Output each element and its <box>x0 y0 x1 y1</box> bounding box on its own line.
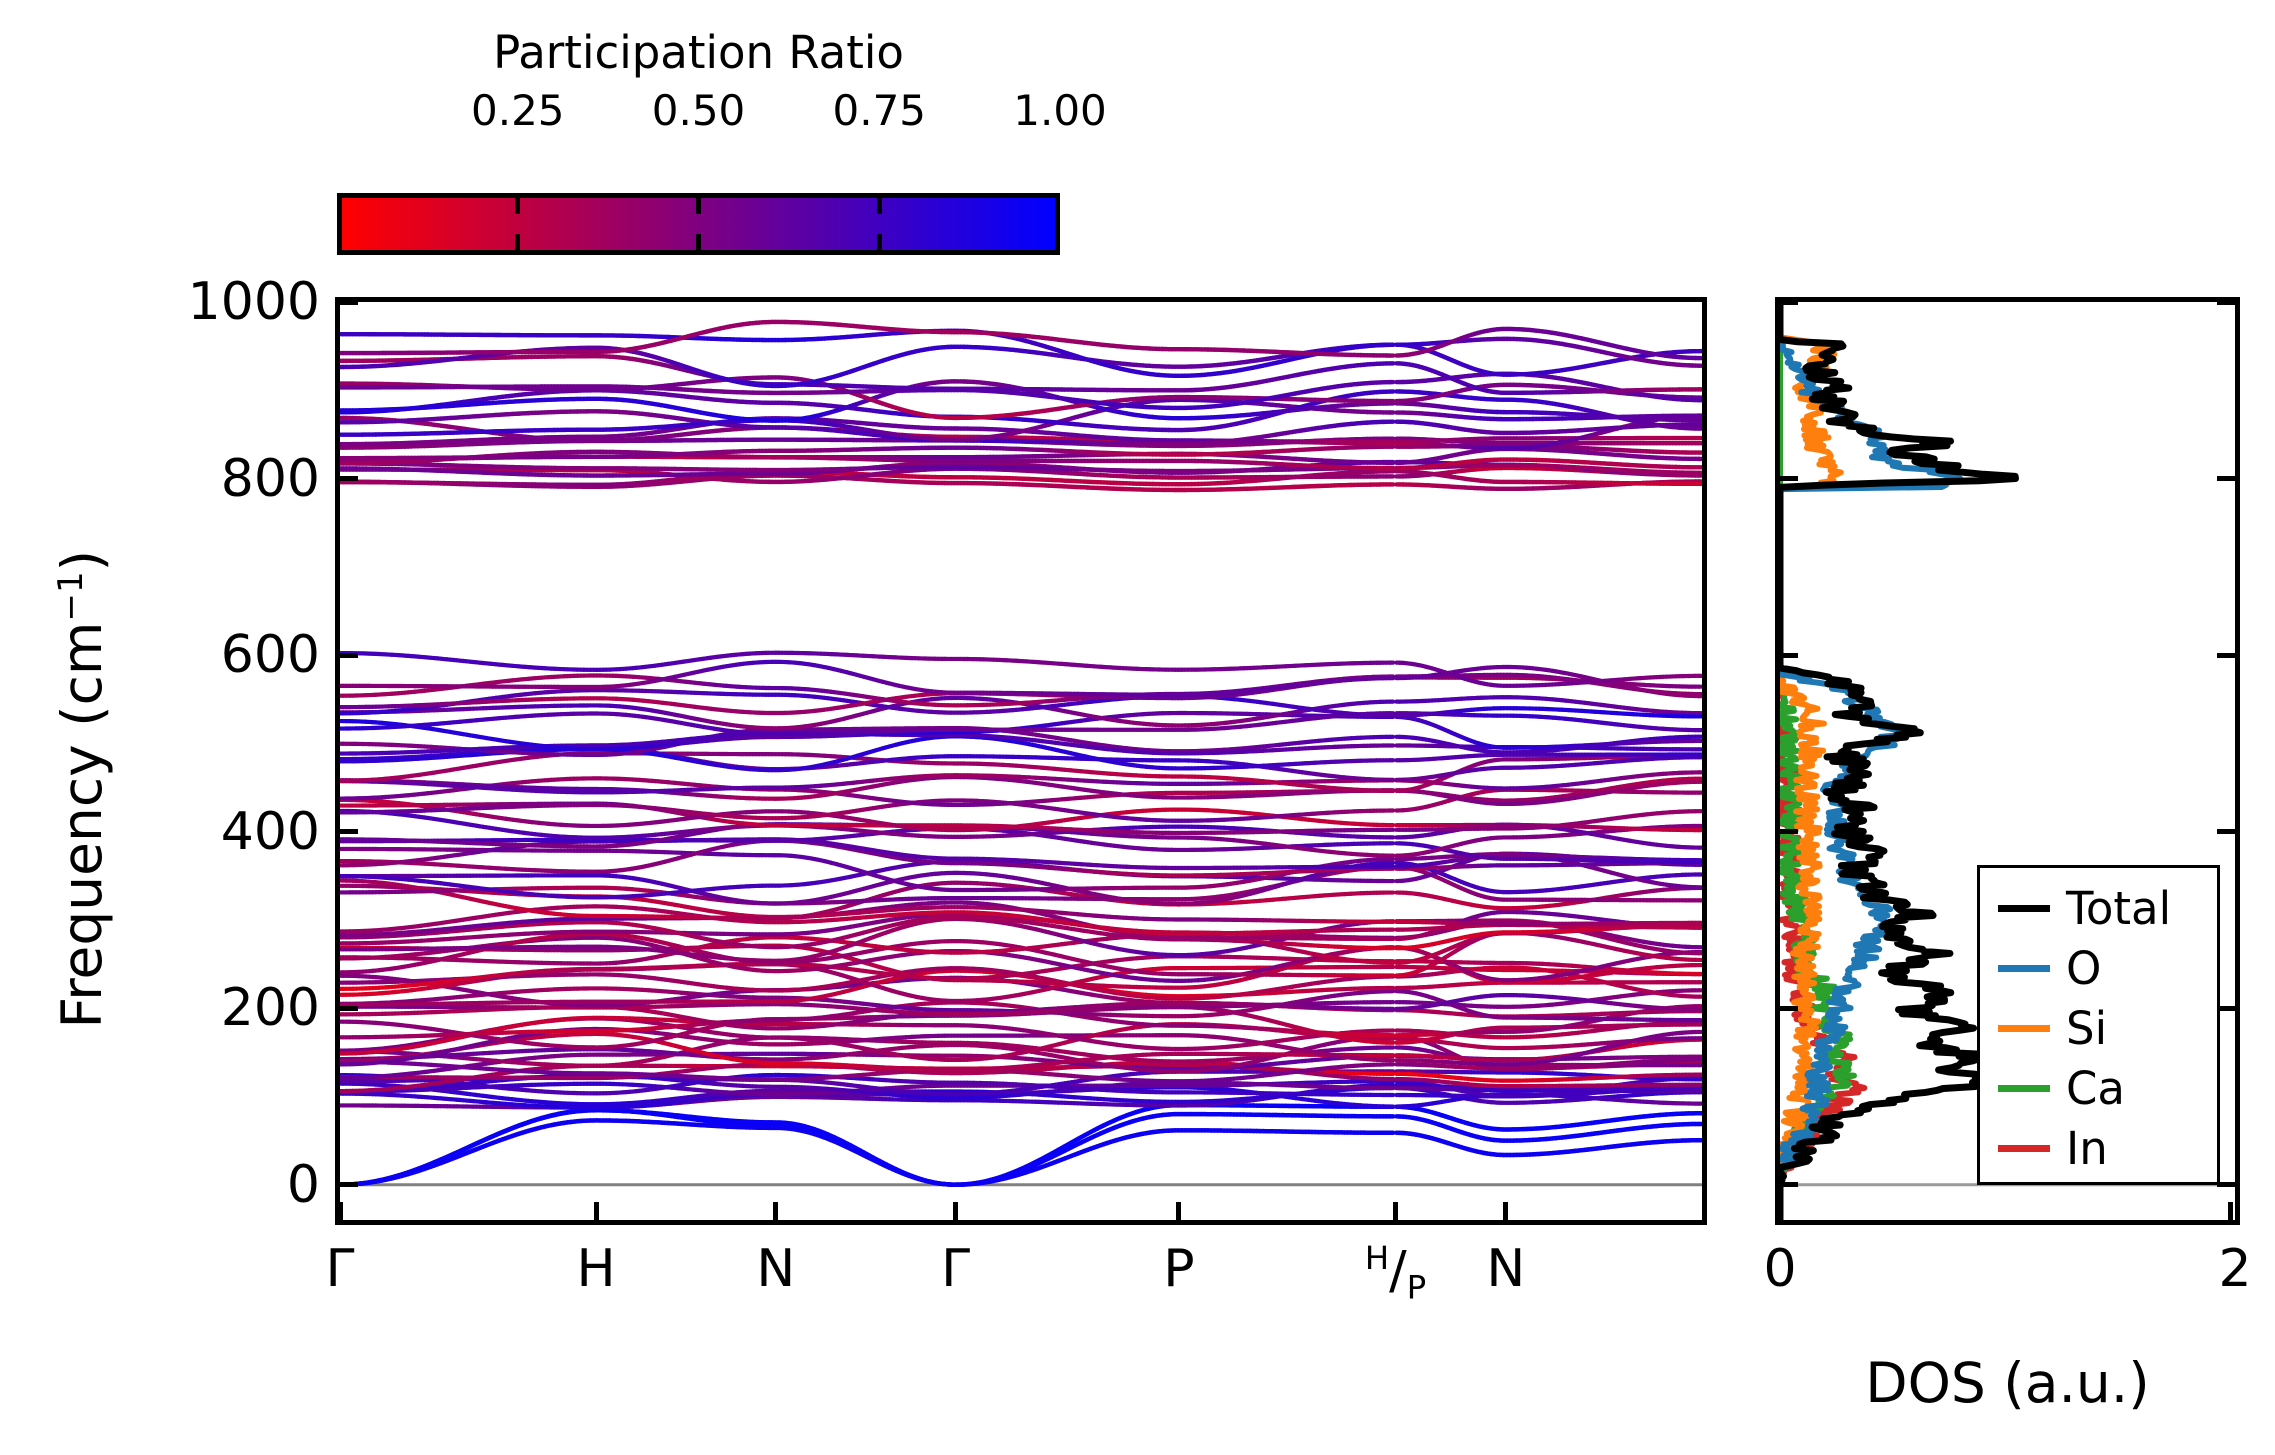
frequency-axis-exponent: −1 <box>51 571 91 621</box>
legend-entry: In <box>1980 1118 2217 1178</box>
frequency-tick <box>340 476 358 481</box>
kpath-tick <box>1393 1202 1398 1220</box>
kpath-tick <box>1503 1202 1508 1220</box>
kpath-tick-label: N <box>756 1239 795 1299</box>
kpath-tick <box>594 1202 599 1220</box>
dos-frequency-tick <box>1780 476 1798 481</box>
dos-tick <box>1778 1202 1783 1220</box>
band-structure-axes <box>335 297 1707 1225</box>
dos-tick-label: 2 <box>2218 1239 2251 1299</box>
frequency-tick-label: 600 <box>95 625 320 685</box>
legend-entry: Si <box>1980 998 2217 1058</box>
colorbar-tick-label: 0.75 <box>832 86 926 135</box>
legend-swatch-o <box>1998 965 2050 972</box>
frequency-tick <box>340 829 358 834</box>
dos-frequency-tick <box>2217 300 2235 305</box>
band-structure-plot-area <box>340 302 1702 1220</box>
band-structure-curves <box>340 302 1702 1220</box>
legend-entry: O <box>1980 938 2217 998</box>
colorbar-tick-labels: 0.250.500.751.00 <box>337 86 1060 132</box>
colorbar-title: Participation Ratio <box>337 30 1060 75</box>
kpath-tick-label: Γ <box>941 1239 970 1299</box>
legend-entry: Ca <box>1980 1058 2217 1118</box>
dos-tick-label: 0 <box>1763 1239 1796 1299</box>
dos-tick <box>2228 1202 2233 1220</box>
legend-swatch-ca <box>1998 1085 2050 1092</box>
dos-frequency-tick <box>1780 1182 1798 1187</box>
frequency-tick-label: 800 <box>95 449 320 509</box>
kpath-tick <box>773 1202 778 1220</box>
frequency-tick-label: 400 <box>95 802 320 862</box>
dos-frequency-tick <box>2217 476 2235 481</box>
dos-legend: TotalOSiCaIn <box>1977 865 2220 1185</box>
legend-label: Total <box>2066 886 2171 931</box>
dos-frequency-tick <box>2217 829 2235 834</box>
legend-swatch-in <box>1998 1145 2050 1152</box>
kpath-tick-label-hp: H/P <box>1365 1239 1426 1307</box>
kpath-tick-label: P <box>1163 1239 1194 1299</box>
dos-frequency-tick <box>2217 653 2235 658</box>
frequency-tick <box>340 1006 358 1011</box>
frequency-tick-label: 0 <box>95 1155 320 1215</box>
dos-axis-label: DOS (a.u.) <box>1775 1356 2240 1411</box>
colorbar-tick <box>696 234 701 250</box>
legend-swatch-si <box>1998 1025 2050 1032</box>
kpath-tick-label: H <box>576 1239 615 1299</box>
kpath-tick <box>338 1202 343 1220</box>
frequency-tick-label: 200 <box>95 978 320 1038</box>
colorbar-tick <box>696 198 701 214</box>
legend-swatch-total <box>1998 905 2050 912</box>
colorbar-tick-label: 1.00 <box>1013 86 1107 135</box>
legend-label: Ca <box>2066 1066 2125 1111</box>
colorbar-tick <box>515 234 520 250</box>
colorbar-tick <box>877 198 882 214</box>
legend-label: In <box>2066 1126 2108 1171</box>
colorbar <box>337 193 1060 255</box>
frequency-tick-label: 1000 <box>95 272 320 332</box>
dos-frequency-tick <box>1780 653 1798 658</box>
frequency-tick <box>340 300 358 305</box>
frequency-tick <box>340 653 358 658</box>
kpath-tick-label: N <box>1486 1239 1525 1299</box>
colorbar-tick <box>877 234 882 250</box>
colorbar-tick-label: 0.50 <box>652 86 746 135</box>
dos-frequency-tick <box>1780 1006 1798 1011</box>
kpath-tick-label: Γ <box>326 1239 355 1299</box>
legend-label: Si <box>2066 1006 2107 1051</box>
frequency-tick <box>340 1182 358 1187</box>
kpath-tick <box>953 1202 958 1220</box>
colorbar-tick <box>515 198 520 214</box>
legend-entry: Total <box>1980 878 2217 938</box>
colorbar-tick-label: 0.25 <box>471 86 565 135</box>
dos-frequency-tick <box>1780 829 1798 834</box>
kpath-tick <box>1176 1202 1181 1220</box>
dos-frequency-tick <box>1780 300 1798 305</box>
legend-label: O <box>2066 946 2101 991</box>
